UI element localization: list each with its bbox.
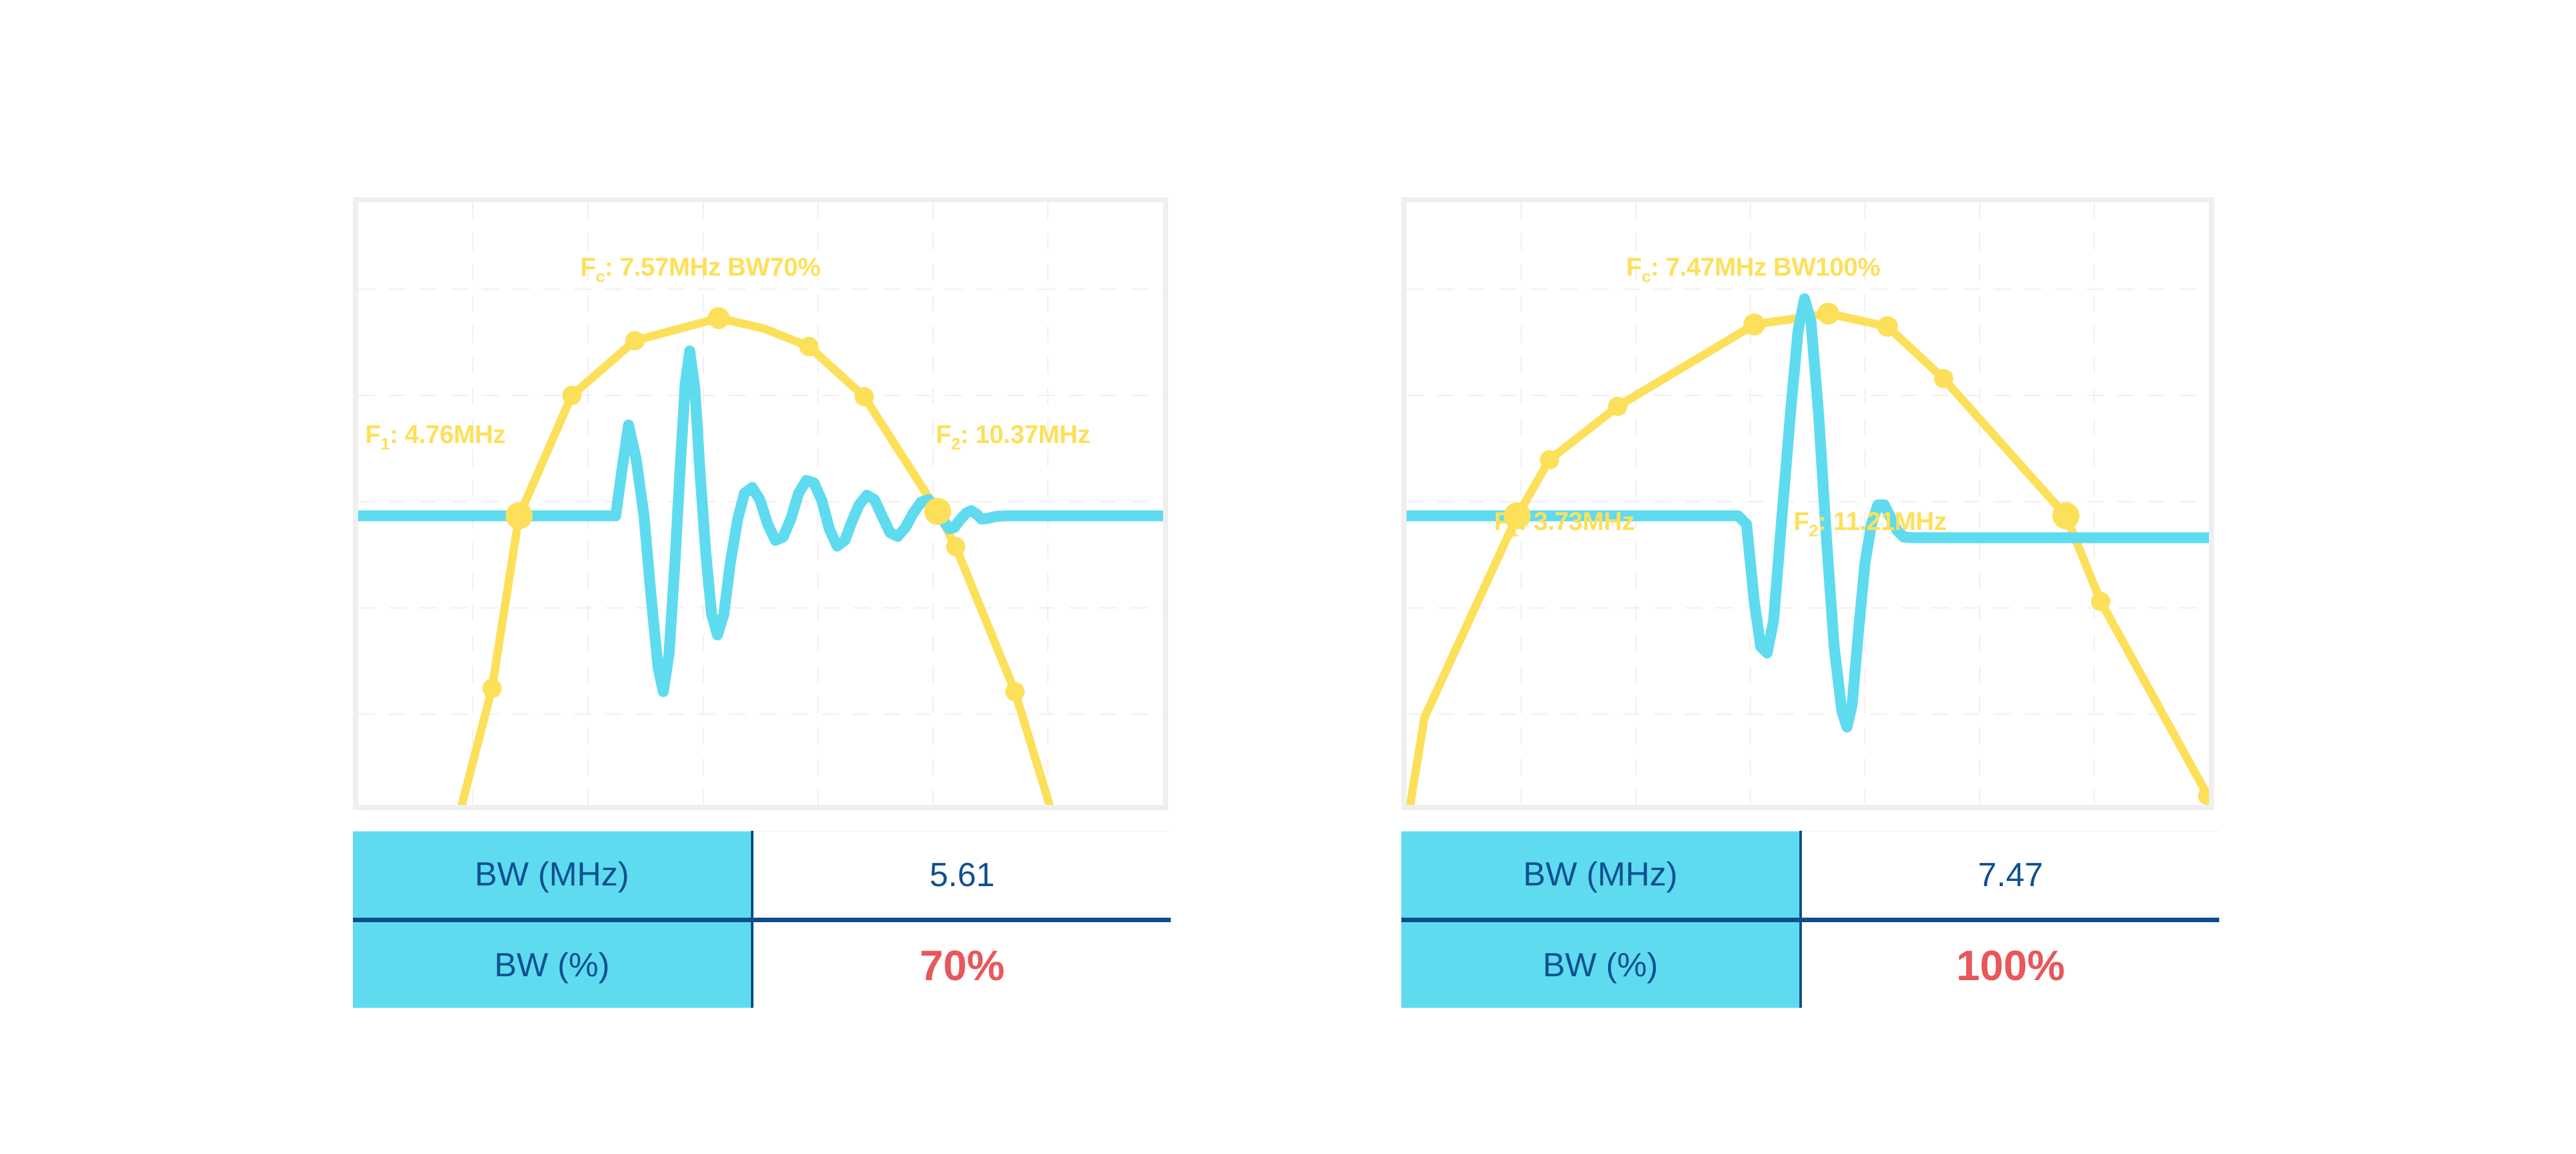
chart-plot-right	[1406, 202, 2209, 805]
f1-value: : 3.73MHz	[1519, 507, 1634, 536]
panel-right: Fc: 7.47MHz BW100% F1: 3.73MHz F2: 11.21…	[1043, 0, 2331, 1154]
f1-subscript: 1	[381, 434, 390, 453]
fc-prefix: F	[580, 253, 596, 281]
spectrum-curve	[1410, 314, 2209, 805]
figure-root: Fc: 7.57MHz BW70% F1: 4.76MHz F2: 10.37M…	[0, 0, 2576, 1154]
fc-value: : 7.47MHz BW100%	[1651, 253, 1880, 281]
row-label-bw-mhz: BW (MHz)	[353, 831, 752, 920]
f2-subscript: 2	[951, 434, 960, 453]
table-row: BW (MHz) 7.47	[1401, 831, 2219, 920]
chart-svg-left	[358, 202, 1163, 805]
fc-subscript: c	[596, 267, 605, 286]
pulse-waveform	[358, 351, 1163, 692]
table-row: BW (%) 100%	[1401, 920, 2219, 1008]
row-value-bw-mhz: 7.47	[1801, 831, 2219, 920]
annotation-center-frequency-right: Fc: 7.47MHz BW100%	[1626, 254, 1880, 280]
row-label-bw-mhz: BW (MHz)	[1401, 831, 1801, 920]
annotation-f1-left: F1: 4.76MHz	[365, 422, 506, 448]
annotation-f2-right: F2: 11.21MHz	[1794, 509, 1946, 534]
f2-value: : 11.21MHz	[1818, 507, 1947, 536]
fc-subscript: c	[1642, 267, 1651, 286]
spectrum-curve	[461, 318, 1050, 805]
fc-value: : 7.57MHz BW70%	[605, 253, 820, 281]
chart-frame-right	[1401, 197, 2214, 810]
spectrum-markers	[482, 307, 1025, 701]
row-value-bw-pct: 100%	[1801, 920, 2219, 1008]
f1-value: : 4.76MHz	[390, 421, 506, 449]
f1-prefix: F	[365, 421, 381, 449]
f2-prefix: F	[1794, 507, 1809, 536]
spectrum-markers	[1504, 303, 2209, 805]
annotation-f1-right: F1: 3.73MHz	[1494, 509, 1634, 534]
f1-prefix: F	[1494, 507, 1510, 536]
f2-subscript: 2	[1809, 521, 1818, 540]
f2-prefix: F	[936, 421, 951, 449]
row-label-bw-pct: BW (%)	[1401, 920, 1801, 1008]
annotation-center-frequency-left: Fc: 7.57MHz BW70%	[580, 254, 820, 280]
chart-plot-left	[358, 202, 1163, 805]
fc-prefix: F	[1626, 253, 1642, 281]
f1-subscript: 1	[1510, 521, 1519, 540]
chart-svg-right	[1406, 202, 2209, 805]
row-label-bw-pct: BW (%)	[353, 920, 752, 1008]
bandwidth-table-right: BW (MHz) 7.47 BW (%) 100%	[1401, 831, 2219, 1008]
